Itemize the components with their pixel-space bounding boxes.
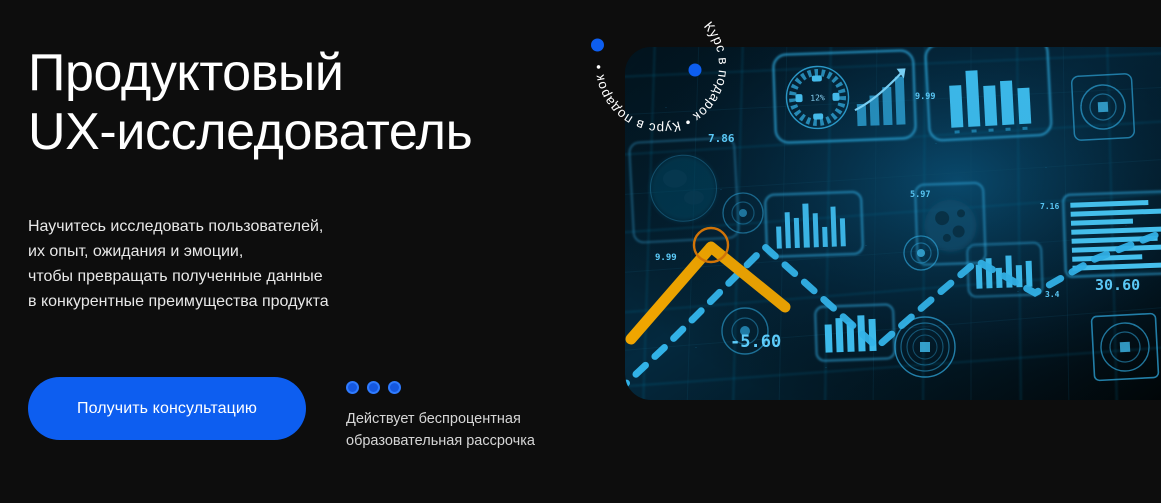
installment-dot-3: [388, 381, 401, 394]
hero-subtitle: Научитесь исследовать пользователей, их …: [28, 214, 608, 315]
installment-dot-1: [346, 381, 359, 394]
hero-section: Продуктовый UX-исследователь Научитесь и…: [0, 0, 1161, 503]
cta-row: Получить консультацию Действует беспроце…: [28, 377, 535, 453]
page-title: Продуктовый UX-исследователь: [28, 44, 608, 162]
hero-left-column: Продуктовый UX-исследователь Научитесь и…: [28, 44, 608, 315]
dashboard-image: 12%: [625, 47, 1161, 400]
installment-block: Действует беспроцентная образовательная …: [346, 377, 535, 453]
get-consultation-button[interactable]: Получить консультацию: [28, 377, 306, 440]
installment-text: Действует беспроцентная образовательная …: [346, 408, 535, 453]
installment-dot-2: [367, 381, 380, 394]
installment-dots: [346, 381, 535, 394]
